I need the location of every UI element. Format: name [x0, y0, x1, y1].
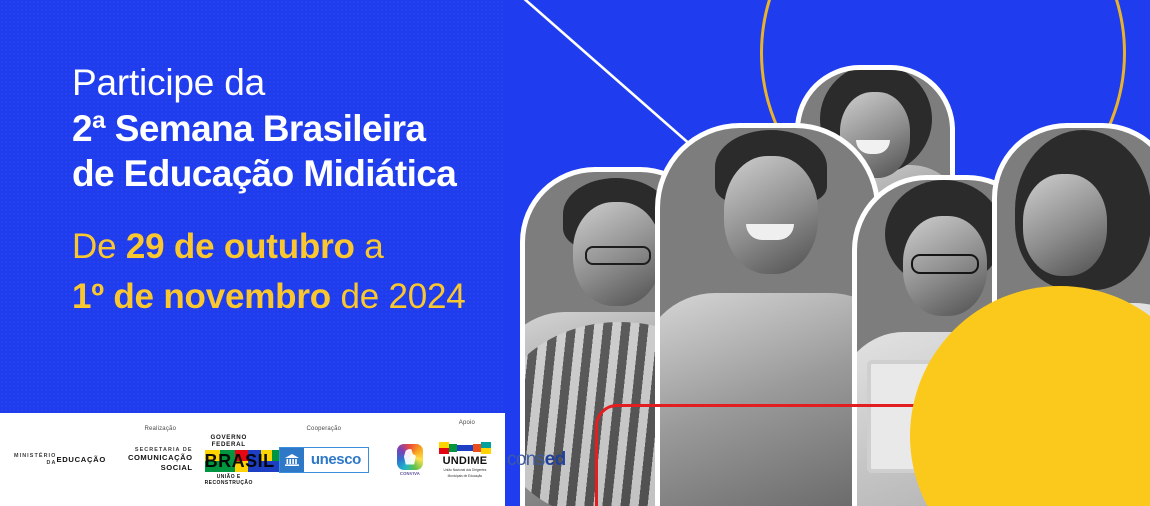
logo-unesco: Cooperação unesco	[279, 447, 369, 473]
logo-conviva: CONVIVA	[393, 444, 427, 476]
event-dates: De 29 de outubro a 1º de novembro de 202…	[72, 222, 612, 322]
mec-line-2: EDUCAÇÃO	[56, 455, 105, 464]
caption-apoio: Apoio	[407, 420, 527, 426]
secom-line-2: COMUNICAÇÃO SOCIAL	[128, 453, 193, 472]
secom-line-1: SECRETARIA DE	[128, 447, 193, 454]
person-right	[997, 128, 1150, 506]
headline-line-1: Participe da	[72, 60, 592, 106]
date-suffix-2: de 2024	[331, 277, 466, 316]
undime-sub-1: União Nacional dos Dirigentes	[437, 468, 493, 472]
date-line-1: De 29 de outubro a	[72, 222, 612, 272]
conviva-hand-icon	[397, 444, 423, 470]
logo-consed: consed	[507, 449, 566, 471]
logo-secretaria-comunicacao-social: Realização SECRETARIA DE COMUNICAÇÃO SOC…	[128, 447, 193, 473]
campaign-banner: Participe da 2ª Semana Brasileira de Edu…	[0, 0, 1150, 506]
person-center	[660, 128, 875, 506]
undime-sub-2: Municipais de Educação	[437, 474, 493, 478]
consed-part-2: ed	[545, 449, 566, 470]
tablet	[867, 360, 985, 473]
date-strong-1: 29 de outubro	[126, 227, 355, 266]
page-title: Participe da 2ª Semana Brasileira de Edu…	[72, 60, 592, 196]
brasil-top-text: GOVERNO FEDERAL	[205, 434, 253, 448]
undime-bow-icon	[437, 441, 493, 455]
temple-icon	[280, 448, 304, 472]
date-strong-2: 1º de novembro	[72, 277, 331, 316]
caption-cooperacao: Cooperação	[279, 426, 369, 432]
brasil-wordmark: BRASIL	[205, 450, 253, 472]
brasil-bottom-text: UNIÃO E RECONSTRUÇÃO	[205, 474, 253, 486]
logo-governo-federal-brasil: GOVERNO FEDERAL BRASIL UNIÃO E RECONSTR	[205, 434, 253, 486]
logo-undime: UNDIME União Nacional dos Dirigentes Mun…	[437, 441, 493, 477]
caption-realizacao: Realização	[128, 426, 193, 434]
headline-line-2: 2ª Semana Brasileira	[72, 106, 592, 151]
date-line-2: 1º de novembro de 2024	[72, 272, 612, 322]
conviva-wordmark: CONVIVA	[393, 471, 427, 476]
apoio-logo-group: Apoio CONVIVA UNDIME	[393, 441, 566, 477]
unesco-wordmark: unesco	[304, 451, 368, 468]
consed-part-1: cons	[507, 449, 545, 470]
headline-line-3: de Educação Midiática	[72, 151, 592, 196]
brasil-color-blocks: BRASIL	[205, 450, 253, 472]
footer-logo-bar: MINISTÉRIO DA EDUCAÇÃO Realização SECRET…	[0, 413, 505, 506]
date-prefix: De	[72, 227, 126, 266]
mec-line-1: MINISTÉRIO DA	[14, 453, 56, 467]
undime-wordmark: UNDIME	[437, 455, 493, 467]
logo-ministerio-educacao: MINISTÉRIO DA EDUCAÇÃO	[14, 453, 106, 467]
date-suffix-1: a	[355, 227, 384, 266]
